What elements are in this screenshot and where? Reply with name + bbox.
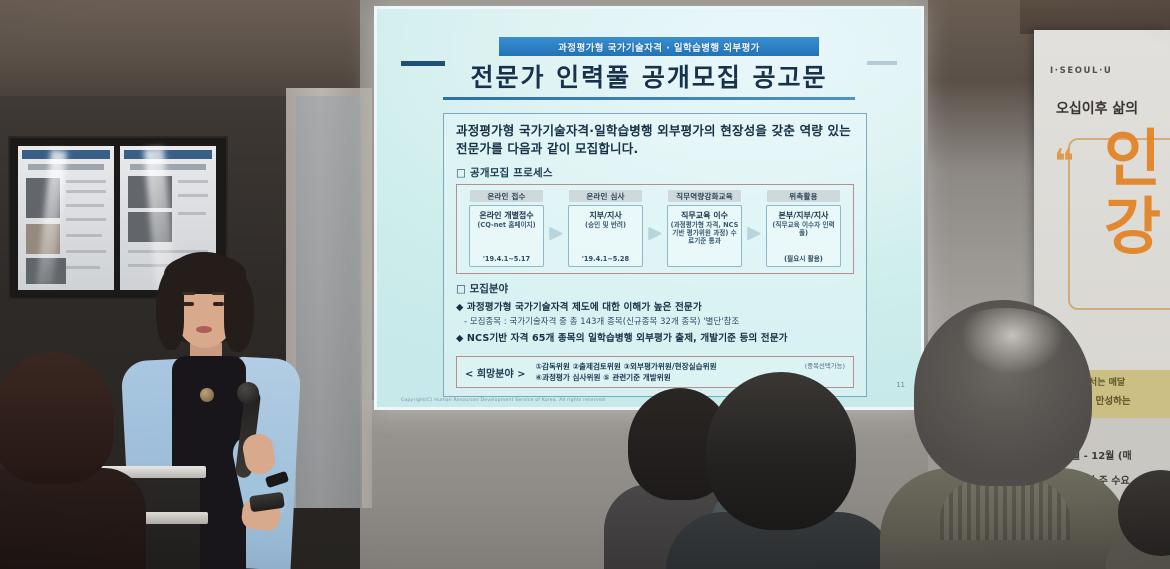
left-wall-upper bbox=[0, 0, 372, 96]
process-step-line1: 지부/지사 bbox=[589, 211, 621, 221]
presenter-eyebrow-left bbox=[182, 292, 195, 295]
presenter-eyebrow-right bbox=[212, 292, 225, 295]
process-step-body: 본부/지부/지사 (직무교육 이수자 인력풀) (필요시 활용) bbox=[766, 205, 841, 267]
process-step: 온라인 접수 온라인 개별접수 (CQ-net 홈페이지) '19.4.1~5.… bbox=[463, 190, 550, 267]
slide-intro-text: 과정평가형 국가기술자격·일학습병행 외부평가의 현장성을 갖춘 역량 있는 전… bbox=[456, 122, 854, 158]
right-wall-upper bbox=[1020, 0, 1170, 34]
microphone-head-icon bbox=[237, 382, 259, 404]
slide-banner: 과정평가형 국가기술자격 · 일학습병행 외부평가 bbox=[499, 37, 819, 56]
recruit-bullet-1-sub: - 모집종목 : 국가기술자격 중 총 143개 종목(신규종목 32개 종목)… bbox=[464, 315, 854, 327]
process-step: 직무역량강화교육 직무교육 이수 (과정평가형 자격, NCS기반 평가위원 과… bbox=[661, 190, 748, 267]
audience-member-center bbox=[676, 372, 876, 569]
hope-items-line1: ①감독위원 ②출제검토위원 ③외부평가위원/현장실습위원 bbox=[536, 361, 795, 372]
process-step-line2: (CQ-net 홈페이지) bbox=[477, 222, 535, 230]
notice-title-line bbox=[130, 164, 206, 170]
process-step-date: '19.4.1~5.28 bbox=[582, 251, 629, 263]
process-step: 위촉활용 본부/지부/지사 (직무교육 이수자 인력풀) (필요시 활용) bbox=[760, 190, 847, 267]
process-step-header: 온라인 접수 bbox=[470, 190, 543, 202]
process-step-line2: (승인 및 반려) bbox=[585, 222, 626, 230]
slide-copyright-footer: Copyright(C) Human Resources Development… bbox=[401, 398, 607, 403]
recruit-bullet-1: ◆ 과정평가형 국가기술자격 제도에 대한 이해가 높은 전문가 bbox=[456, 299, 854, 313]
flow-arrow-icon: ▶ bbox=[550, 200, 562, 267]
audience-member-left bbox=[0, 352, 136, 569]
recruit-fields-label: □ 모집분야 bbox=[456, 281, 854, 296]
title-underline bbox=[443, 97, 855, 100]
slide-body-box: 과정평가형 국가기술자격·일학습병행 외부평가의 현장성을 갖춘 역량 있는 전… bbox=[443, 113, 867, 397]
process-step-line2: (직무교육 이수자 인력풀) bbox=[769, 222, 838, 238]
poster-brand: I·SEOUL·U bbox=[1050, 66, 1112, 76]
recruit-fields-section: □ 모집분야 ◆ 과정평가형 국가기술자격 제도에 대한 이해가 높은 전문가 … bbox=[456, 281, 854, 344]
poster-subtitle: 오십이후 삶의 bbox=[1056, 98, 1138, 118]
poster-headline-char-1: 인 bbox=[1104, 130, 1161, 189]
process-step-header: 직무역량강화교육 bbox=[668, 190, 741, 202]
presenter-eye-right bbox=[213, 302, 224, 306]
process-step-line2: (과정평가형 자격, NCS기반 평가위원 과정) 수료기준 통과 bbox=[670, 222, 739, 246]
audience-member-right bbox=[880, 300, 1130, 569]
process-step-header: 온라인 심사 bbox=[569, 190, 642, 202]
quote-mark-icon: ❝ bbox=[1054, 152, 1074, 172]
hope-fields-label: < 희망분야 > bbox=[465, 365, 526, 380]
notice-sheet bbox=[18, 146, 114, 290]
process-flow-diagram: 온라인 접수 온라인 개별접수 (CQ-net 홈페이지) '19.4.1~5.… bbox=[456, 184, 854, 274]
notice-header-bar bbox=[124, 150, 212, 159]
projected-slide: 과정평가형 국가기술자격 · 일학습병행 외부평가 전문가 인력풀 공개모집 공… bbox=[374, 6, 924, 410]
presenter-eye-left bbox=[183, 302, 194, 306]
flow-arrow-icon: ▶ bbox=[748, 200, 760, 267]
presenter-mouth bbox=[196, 326, 212, 333]
process-step-body: 온라인 개별접수 (CQ-net 홈페이지) '19.4.1~5.17 bbox=[469, 205, 544, 267]
presenter-necklace bbox=[200, 388, 214, 402]
process-step-line1: 본부/지부/지사 bbox=[778, 211, 828, 221]
process-section-label: □ 공개모집 프로세스 bbox=[456, 165, 854, 180]
process-step-line1: 온라인 개별접수 bbox=[479, 211, 533, 221]
process-step-date: (필요시 활용) bbox=[784, 249, 823, 263]
process-step: 온라인 심사 지부/지사 (승인 및 반려) '19.4.1~5.28 bbox=[562, 190, 649, 267]
process-step-line1: 직무교육 이수 bbox=[681, 211, 728, 221]
presenter-hair-right bbox=[224, 278, 254, 352]
process-step-date: '19.4.1~5.17 bbox=[483, 251, 530, 263]
slide-title: 전문가 인력풀 공개모집 공고문 bbox=[377, 59, 921, 93]
notice-title-line bbox=[28, 164, 104, 170]
audience-member-far-right bbox=[1118, 470, 1170, 569]
process-step-header: 위촉활용 bbox=[767, 190, 840, 202]
lecture-room-scene: 과정평가형 국가기술자격 · 일학습병행 외부평가 전문가 인력풀 공개모집 공… bbox=[0, 0, 1170, 569]
process-step-body: 직무교육 이수 (과정평가형 자격, NCS기반 평가위원 과정) 수료기준 통… bbox=[667, 205, 742, 267]
recruit-bullet-2: ◆ NCS기반 자격 65개 종목의 일학습병행 외부평가 출제, 개발기준 등… bbox=[456, 330, 854, 344]
presenter-hair-left bbox=[156, 278, 184, 350]
hope-fields-note: (중복선택가능) bbox=[805, 361, 845, 370]
flow-arrow-icon: ▶ bbox=[649, 200, 661, 267]
poster-headline-char-2: 강 bbox=[1104, 198, 1161, 257]
process-step-body: 지부/지사 (승인 및 반려) '19.4.1~5.28 bbox=[568, 205, 643, 267]
